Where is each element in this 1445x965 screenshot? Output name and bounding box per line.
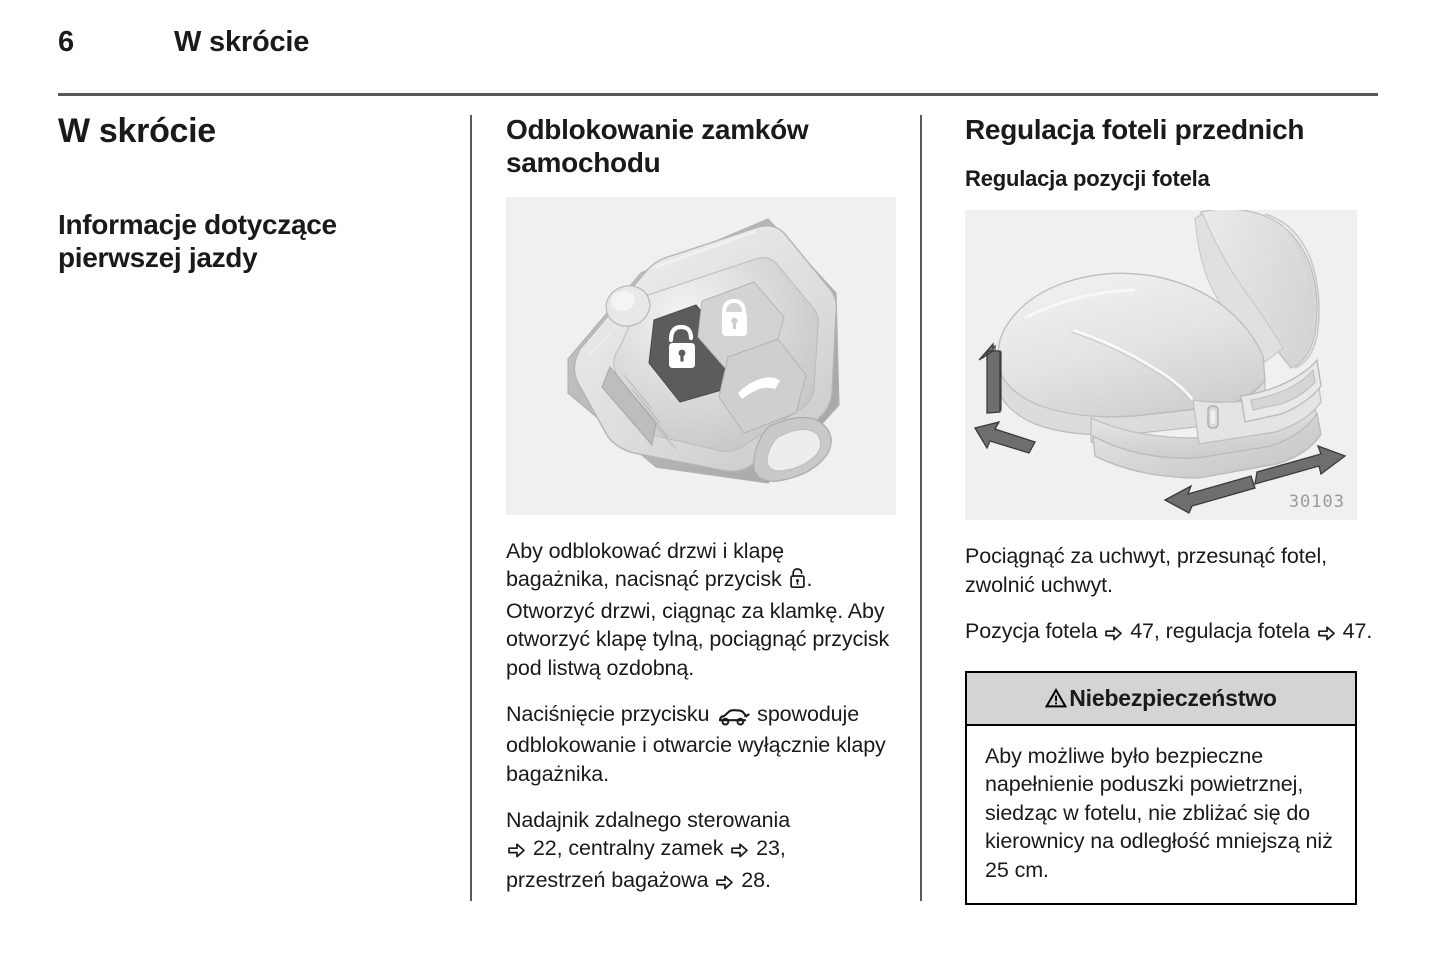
key-fob-illustration — [506, 197, 896, 515]
column-1: W skrócie Informacje dotyczące pierwszej… — [58, 113, 470, 903]
page-reference-arrow-icon — [1104, 620, 1123, 648]
page-number: 6 — [58, 28, 174, 57]
chapter-title: W skrócie — [58, 113, 440, 150]
figure-id: 30103 — [1289, 492, 1345, 512]
column-2: Odblokowanie zamków samochodu — [470, 113, 920, 903]
arrow-up-shape — [979, 344, 1000, 413]
warning-triangle-icon — [1045, 688, 1067, 708]
xref-page-47-b[interactable]: 47 — [1343, 619, 1367, 643]
page-reference-arrow-icon — [715, 869, 734, 897]
warning-body: Aby możliwe było bezpieczne napełnienie … — [967, 726, 1355, 903]
unlock-instructions-paragraph: Aby odblokować drzwi i klapę bagażnika, … — [506, 537, 890, 682]
trunk-open-icon — [716, 703, 750, 731]
warning-header: Niebezpieczeństwo — [967, 673, 1355, 726]
handle-instructions-paragraph: Pociągnąć za uchwyt, przesunąć fotel, zw… — [965, 542, 1378, 599]
subsection-title-seat-position: Regulacja pozycji fotela — [965, 166, 1378, 192]
xref-end: . — [1366, 619, 1372, 643]
xref-mid: , regulacja fotela — [1154, 619, 1316, 643]
xref-page-47-a[interactable]: 47 — [1130, 619, 1154, 643]
trunk-text-before: Naciśnięcie przycisku — [506, 702, 715, 726]
column-3: Regulacja foteli przednich Regulacja poz… — [920, 113, 1378, 903]
xref-page-28[interactable]: 28 — [741, 868, 765, 892]
section-title-first-drive: Informacje dotyczące pierwszej jazdy — [58, 208, 440, 274]
manual-page: 6 W skrócie W skrócie Informacje dotyczą… — [0, 0, 1445, 965]
unlock-text-before: Aby odblokować drzwi i klapę bagażnika, … — [506, 539, 788, 591]
running-head: 6 W skrócie — [58, 28, 1378, 74]
warning-title: Niebezpieczeństwo — [1069, 685, 1277, 712]
xref-page-22[interactable]: 22 — [533, 836, 557, 860]
danger-warning-box: Niebezpieczeństwo Aby możliwe było bezpi… — [965, 671, 1357, 905]
cross-reference-paragraph-col2: Nadajnik zdalnego sterowania 22, central… — [506, 806, 890, 897]
running-head-title: W skrócie — [174, 28, 309, 57]
seat-memory-switch — [1208, 406, 1218, 428]
page-reference-arrow-icon — [730, 837, 749, 865]
xref-end: . — [765, 868, 771, 892]
trunk-instructions-paragraph: Naciśnięcie przycisku spowoduje odblokow… — [506, 700, 890, 788]
xref-line-1: Nadajnik zdalnego sterowania — [506, 808, 790, 832]
key-fob-figure — [506, 197, 896, 515]
xref-mid-1: , centralny zamek — [557, 836, 730, 860]
page-reference-arrow-icon — [507, 837, 526, 865]
front-seat-figure: 30103 — [965, 210, 1357, 520]
three-column-layout: W skrócie Informacje dotyczące pierwszej… — [58, 113, 1378, 903]
unlock-icon — [789, 567, 806, 596]
xref-page-23[interactable]: 23 — [756, 836, 780, 860]
page-reference-arrow-icon — [1317, 620, 1336, 648]
cross-reference-paragraph-col3: Pozycja fotela 47, regulacja fotela 47. — [965, 617, 1378, 648]
arrow-backward — [1165, 476, 1255, 513]
section-title-seat-adjustment: Regulacja foteli przednich — [965, 113, 1378, 146]
front-seat-adjustment-illustration — [965, 210, 1357, 520]
section-title-unlocking: Odblokowanie zamków samochodu — [506, 113, 890, 179]
header-divider — [58, 93, 1378, 96]
warning-text: Aby możliwe było bezpieczne napełnienie … — [985, 742, 1337, 885]
arrow-down-left — [975, 422, 1035, 453]
xref-lead: Pozycja fotela — [965, 619, 1103, 643]
